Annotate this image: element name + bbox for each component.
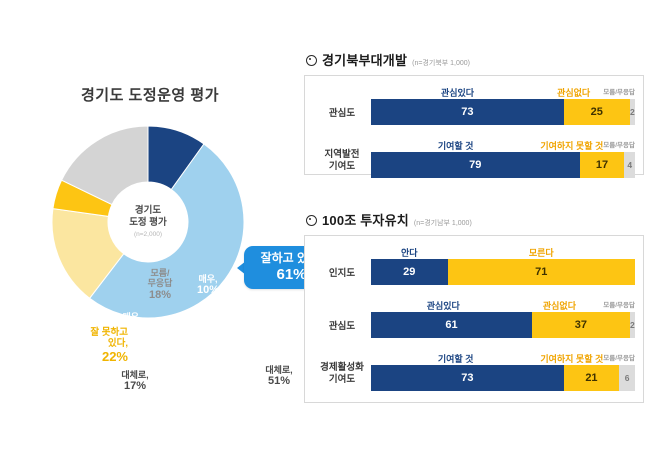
donut-chart: 경기도 도정 평가 (n=2,000) 모름/ 무응답 18% 매우, 10% … [48, 122, 248, 322]
bar-row-label-line1: 경제활성화 [313, 362, 371, 374]
stacked-bar: 2971 [371, 259, 635, 285]
segment-header-yellow: 관심없다 [516, 299, 604, 312]
segment-header-gray: 모름/무응답 [603, 139, 635, 152]
segment-header-yellow: 기여하지 못할 것 [540, 352, 603, 365]
segment-header-gray: 모름/무응답 [603, 86, 635, 99]
stacked-bar-panel: 관심도관심있다관심없다모름/무응답73252지역발전기여도기여할 것기여하지 못… [304, 75, 644, 175]
bar-area: 기여할 것기여하지 못할 것모름/무응답73216 [371, 352, 635, 391]
bar-row-label: 관심도 [313, 108, 371, 125]
donut-label-bad-total-value: 22% [56, 350, 128, 365]
bar-row-label-line1: 관심도 [313, 108, 371, 120]
block-sample-size: (n=경기남부 1,000) [414, 218, 472, 228]
bar-area: 안다모른다2971 [371, 246, 635, 285]
chart-block-north-development: 경기북부대개발 (n=경기북부 1,000) 관심도관심있다관심없다모름/무응답… [304, 50, 644, 175]
bar-area: 관심있다관심없다모름/무응답73252 [371, 86, 635, 125]
segment-header-row: 기여할 것기여하지 못할 것모름/무응답 [371, 352, 635, 365]
donut-label-mostly-good: 대체로, 51% [253, 365, 305, 388]
segment-header-yellow: 기여하지 못할 것 [540, 139, 603, 152]
block-sample-size: (n=경기북부 1,000) [412, 58, 470, 68]
donut-label-dontknow-line2: 무응답 [136, 278, 184, 288]
bar-row-label: 경제활성화기여도 [313, 362, 371, 391]
stacked-bar: 79174 [371, 152, 635, 178]
donut-label-dontknow: 모름/ 무응답 18% [136, 268, 184, 301]
donut-label-bad-total: 잘 못하고 있다, 22% [56, 328, 128, 365]
stacked-bar: 73216 [371, 365, 635, 391]
donut-center-line2: 도정 평가 [129, 217, 167, 229]
segment-header-row: 관심있다관심없다모름/무응답 [371, 86, 635, 99]
donut-label-mostly-bad: 대체로, 17% [111, 370, 159, 393]
bar-segment-yellow[interactable]: 37 [532, 312, 630, 338]
bar-segment-gray[interactable]: 2 [630, 99, 635, 125]
bar-segment-yellow[interactable]: 25 [564, 99, 630, 125]
donut-label-very-good-value: 10% [188, 284, 228, 297]
stacked-bar: 61372 [371, 312, 635, 338]
chart-block-investment: 100조 투자유치 (n=경기남부 1,000) 인지도안다모른다2971관심도… [304, 210, 644, 403]
bar-segment-yellow[interactable]: 21 [564, 365, 619, 391]
bar-segment-gray[interactable]: 6 [619, 365, 635, 391]
bar-row: 지역발전기여도기여할 것기여하지 못할 것모름/무응답79174 [313, 139, 635, 178]
segment-header-navy: 기여할 것 [371, 139, 540, 152]
bar-segment-navy[interactable]: 79 [371, 152, 580, 178]
bar-segment-navy[interactable]: 29 [371, 259, 448, 285]
bar-row-label: 지역발전기여도 [313, 149, 371, 178]
bullet-icon [306, 55, 317, 66]
donut-label-dontknow-line1: 모름/ [136, 268, 184, 278]
bar-area: 관심있다관심없다모름/무응답61372 [371, 299, 635, 338]
stacked-bar-panel: 인지도안다모른다2971관심도관심있다관심없다모름/무응답61372경제활성화기… [304, 235, 644, 403]
segment-header-row: 기여할 것기여하지 못할 것모름/무응답 [371, 139, 635, 152]
bar-row: 경제활성화기여도기여할 것기여하지 못할 것모름/무응답73216 [313, 352, 635, 391]
bar-row-label-line1: 관심도 [313, 321, 371, 333]
bar-row: 관심도관심있다관심없다모름/무응답73252 [313, 86, 635, 125]
bar-row: 관심도관심있다관심없다모름/무응답61372 [313, 299, 635, 338]
bar-segment-navy[interactable]: 61 [371, 312, 532, 338]
bar-row-label-line1: 지역발전 [313, 149, 371, 161]
segment-header-navy: 관심있다 [371, 86, 544, 99]
bar-row-label-line1: 인지도 [313, 268, 371, 280]
row-spacer [313, 287, 635, 299]
bar-row-label: 인지도 [313, 268, 371, 285]
segment-header-navy: 안다 [371, 246, 448, 259]
donut-label-very-good: 매우, 10% [188, 274, 228, 297]
donut-label-mostly-good-text: 대체로, [253, 365, 305, 375]
bar-segment-yellow[interactable]: 71 [448, 259, 635, 285]
donut-label-mostly-bad-text: 대체로, [111, 370, 159, 380]
donut-label-mostly-bad-value: 17% [111, 380, 159, 393]
bar-segment-yellow[interactable]: 17 [580, 152, 625, 178]
segment-header-navy: 관심있다 [371, 299, 516, 312]
bar-row-label-line2: 기여도 [313, 161, 371, 173]
segment-header-row: 안다모른다 [371, 246, 635, 259]
bar-area: 기여할 것기여하지 못할 것모름/무응답79174 [371, 139, 635, 178]
segment-header-gray: 모름/무응답 [603, 299, 635, 312]
bar-segment-gray[interactable]: 4 [624, 152, 635, 178]
bar-segment-navy[interactable]: 73 [371, 365, 564, 391]
donut-label-dontknow-value: 18% [136, 289, 184, 302]
segment-header-gray: 모름/무응답 [603, 352, 635, 365]
stacked-bar: 73252 [371, 99, 635, 125]
block-title: 경기북부대개발 [322, 50, 407, 69]
bullet-icon [306, 215, 317, 226]
bar-segment-gray[interactable]: 2 [630, 312, 635, 338]
block-header: 경기북부대개발 (n=경기북부 1,000) [304, 50, 644, 69]
callout-value: 61% [276, 266, 306, 284]
row-spacer [313, 127, 635, 139]
donut-center-label: 경기도 도정 평가 (n=2,000) [111, 185, 185, 259]
bar-row: 인지도안다모른다2971 [313, 246, 635, 285]
donut-chart-panel: 경기도 도정운영 평가 경기도 도정 평가 (n=2,000) 모름/ 무응답 … [0, 0, 300, 450]
segment-header-navy: 기여할 것 [371, 352, 540, 365]
donut-label-mostly-good-value: 51% [253, 375, 305, 388]
block-title: 100조 투자유치 [322, 210, 409, 229]
donut-chart-title: 경기도 도정운영 평가 [0, 84, 300, 105]
donut-label-very-good-text: 매우, [188, 274, 228, 284]
donut-label-very-bad-text: 매우, [114, 312, 150, 322]
block-header: 100조 투자유치 (n=경기남부 1,000) [304, 210, 644, 229]
bar-row-label: 관심도 [313, 321, 371, 338]
row-spacer [313, 340, 635, 352]
bar-segment-navy[interactable]: 73 [371, 99, 564, 125]
donut-center-sample-size: (n=2,000) [134, 231, 162, 239]
segment-header-yellow: 모른다 [448, 246, 635, 259]
donut-center-line1: 경기도 [135, 205, 161, 217]
bar-row-label-line2: 기여도 [313, 374, 371, 386]
segment-header-yellow: 관심없다 [544, 86, 603, 99]
segment-header-row: 관심있다관심없다모름/무응답 [371, 299, 635, 312]
